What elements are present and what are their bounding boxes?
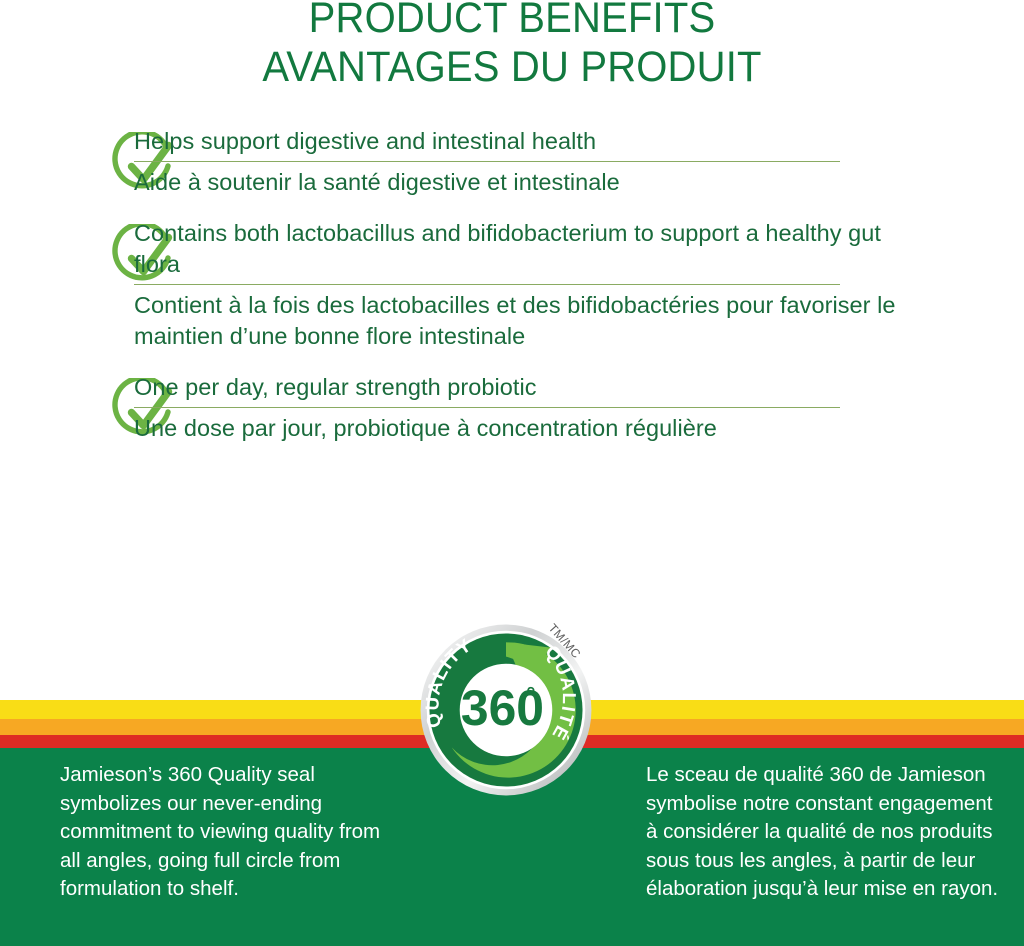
benefit-texts: One per day, regular strength probiotic … [112, 372, 1024, 444]
benefit-text-fr: Aide à soutenir la santé digestive et in… [134, 167, 932, 198]
benefit-text-fr: Contient à la fois des lactobacilles et … [134, 290, 932, 352]
benefit-icon-wrap [0, 218, 112, 292]
benefit-divider [134, 161, 840, 162]
page-title-en: PRODUCT BENEFITS [36, 0, 988, 43]
benefit-item: Contains both lactobacillus and bifidoba… [0, 218, 1024, 352]
page-title: PRODUCT BENEFITS AVANTAGES DU PRODUIT [0, 0, 1024, 92]
benefit-text-en: Contains both lactobacillus and bifidoba… [134, 218, 932, 280]
benefit-item: Helps support digestive and intestinal h… [0, 126, 1024, 200]
seal-description-en: Jamieson’s 360 Quality seal symbolizes o… [60, 761, 405, 904]
benefit-text-en: One per day, regular strength probiotic [134, 372, 932, 403]
benefit-divider [134, 407, 840, 408]
benefits-list: Helps support digestive and intestinal h… [0, 126, 1024, 446]
benefit-item: One per day, regular strength probiotic … [0, 372, 1024, 446]
seal-description-en-text: Jamieson’s 360 Quality seal symbolizes o… [60, 761, 405, 904]
benefit-text-fr: Une dose par jour, probiotique à concent… [134, 413, 932, 444]
benefit-divider [134, 284, 840, 285]
benefit-texts: Helps support digestive and intestinal h… [112, 126, 1024, 198]
benefit-icon-wrap [0, 372, 112, 446]
seal-degree-symbol: ° [526, 682, 535, 708]
page-title-fr: AVANTAGES DU PRODUIT [36, 43, 988, 92]
benefit-text-en: Helps support digestive and intestinal h… [134, 126, 932, 157]
benefit-texts: Contains both lactobacillus and bifidoba… [112, 218, 1024, 352]
benefit-icon-wrap [0, 126, 112, 200]
seal-description-fr-text: Le sceau de qualité 360 de Jamieson symb… [646, 761, 1006, 904]
seal-description-fr: Le sceau de qualité 360 de Jamieson symb… [646, 761, 1006, 904]
